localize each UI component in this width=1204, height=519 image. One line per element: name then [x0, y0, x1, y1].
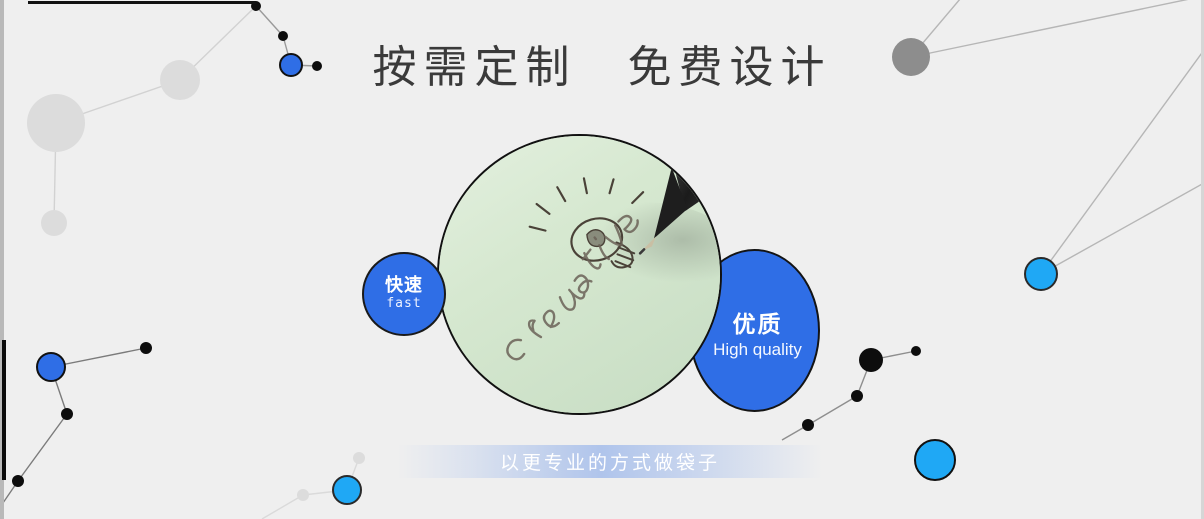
node-cyan-bottom-left — [333, 476, 361, 504]
node-gray-large-left — [27, 94, 85, 152]
tagline-text: 以更专业的方式做袋子 — [500, 448, 720, 475]
node-gray-small-left — [41, 210, 67, 236]
left-black-bar — [2, 340, 6, 480]
node-black-left-2 — [61, 408, 73, 420]
creative-photo-illustration — [439, 136, 720, 413]
creative-photo-circle — [437, 134, 722, 415]
tagline-banner: 以更专业的方式做袋子 — [398, 445, 822, 478]
node-black-left-1 — [140, 342, 152, 354]
network-edge — [256, 6, 283, 36]
promo-banner: 按需定制 免费设计 — [0, 0, 1204, 519]
node-gray-bottom-2 — [297, 489, 309, 501]
node-black-right-2 — [851, 390, 863, 402]
page-title: 按需定制 免费设计 — [0, 44, 1204, 92]
badge-fast-label-cn: 快速 — [385, 275, 423, 296]
node-black-right-3 — [802, 419, 814, 431]
network-edge — [808, 396, 857, 425]
badge-fast-label-en: fast — [386, 296, 421, 313]
node-cyan-bottom-right — [915, 440, 955, 480]
node-gray-bottom-1 — [353, 452, 365, 464]
badge-fast: 快速 fast — [362, 252, 446, 336]
node-black-left-3 — [12, 475, 24, 487]
node-black-right-1 — [911, 346, 921, 356]
node-black-big-right — [859, 348, 883, 372]
network-edge — [1041, 183, 1204, 274]
node-black-top-2 — [278, 31, 288, 41]
network-edge — [262, 495, 303, 519]
top-black-line — [28, 1, 256, 4]
node-cyan-right — [1025, 258, 1057, 290]
network-edge — [18, 414, 67, 481]
node-blue-left-lower — [37, 353, 65, 381]
